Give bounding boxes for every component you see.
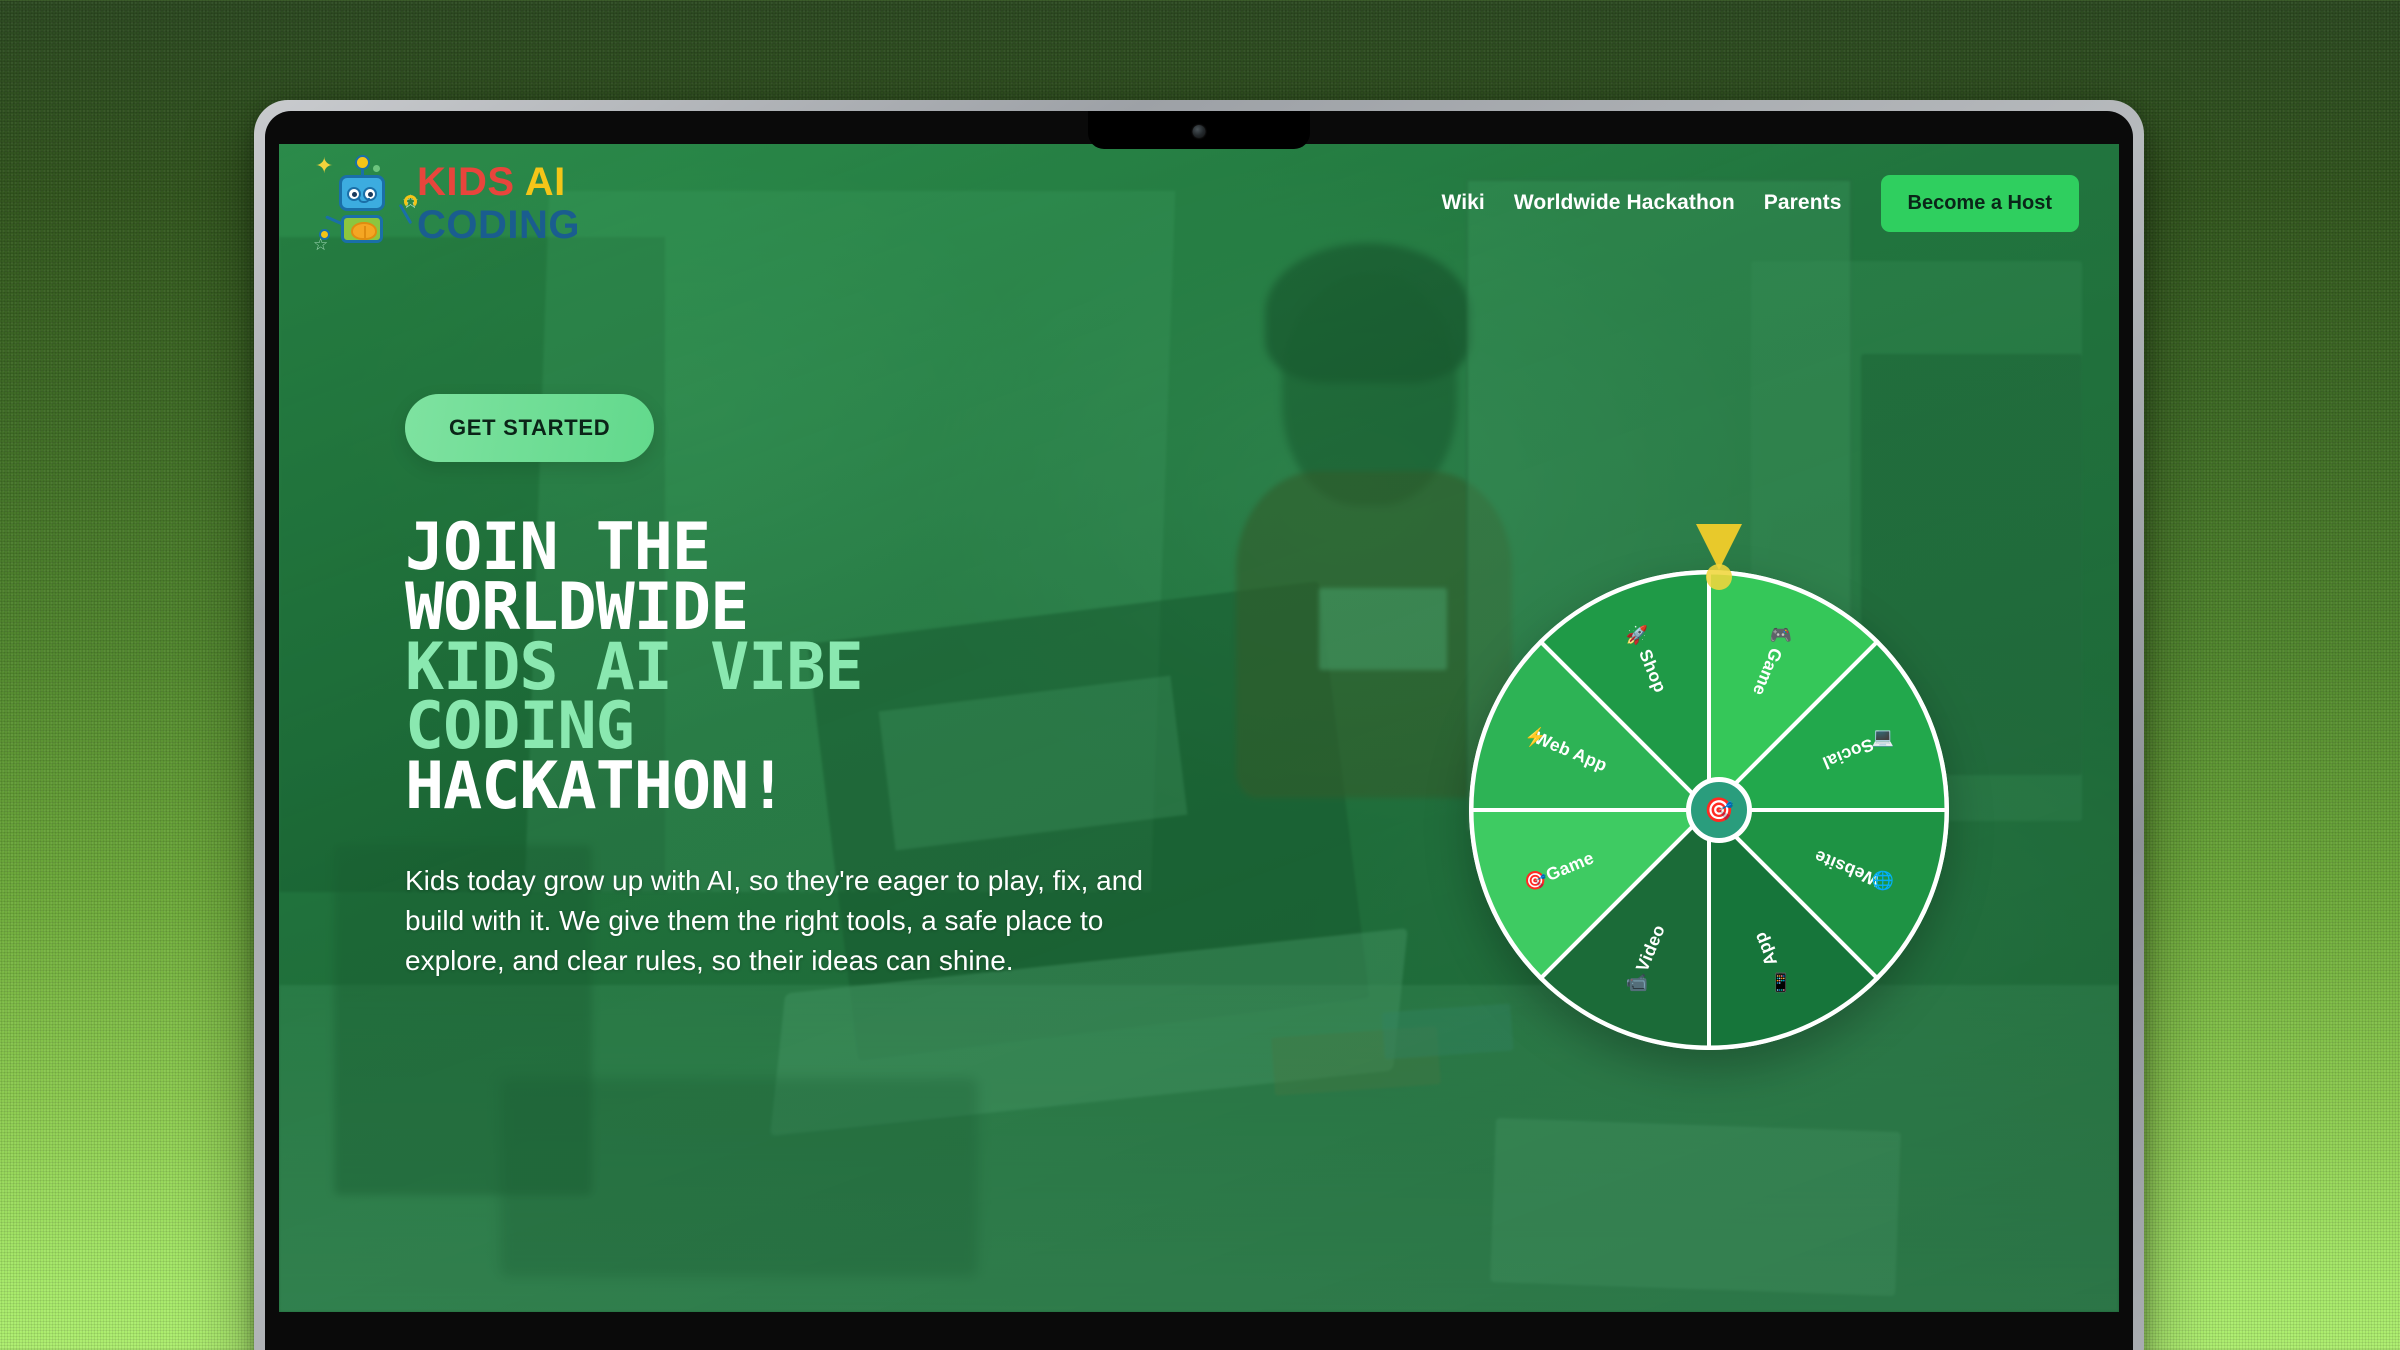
headline-line: JOIN THE <box>405 518 1205 578</box>
spin-wheel[interactable]: Game🎮Social💻Website🌐App📱Video📹Game🎯Web A… <box>1469 524 1969 1064</box>
page-title: JOIN THEWORLDWIDEKIDS AI VIBECODINGHACKA… <box>405 518 1205 817</box>
wheel-segment-icon: 📹 <box>1626 972 1648 992</box>
headline-line: HACKATHON! <box>405 757 1205 817</box>
wheel-hub-target-icon: 🎯 <box>1686 777 1752 843</box>
nav-link-wiki[interactable]: Wiki <box>1441 191 1484 215</box>
nav-link-worldwide-hackathon[interactable]: Worldwide Hackathon <box>1514 191 1735 215</box>
screen-notch <box>1088 111 1310 149</box>
headline-line: WORLDWIDE <box>405 578 1205 638</box>
site-header: ✦ ☆ ☆ <box>279 144 2119 262</box>
main-navigation: Wiki Worldwide Hackathon Parents Become … <box>1441 175 2079 232</box>
wheel-segment-icon: 💻 <box>1871 727 1893 747</box>
wheel-segment-icon: 🌐 <box>1871 870 1893 891</box>
brand-ai: AI <box>525 160 566 204</box>
become-a-host-button[interactable]: Become a Host <box>1881 175 2080 232</box>
brand-kids: KIDS <box>417 160 525 204</box>
laptop-device: ✦ ☆ ☆ <box>254 100 2144 1350</box>
wheel-segment-icon: 📱 <box>1770 971 1792 992</box>
brand-coding: CODING <box>417 205 580 245</box>
laptop-lid: ✦ ☆ ☆ <box>254 100 2144 1350</box>
nav-link-parents[interactable]: Parents <box>1764 191 1842 215</box>
get-started-button[interactable]: GET STARTED <box>405 394 654 462</box>
hero-section: GET STARTED JOIN THEWORLDWIDEKIDS AI VIB… <box>405 394 1205 981</box>
triangle-pointer-icon <box>1696 524 1742 586</box>
page-content: ✦ ☆ ☆ <box>279 144 2119 1312</box>
screen-viewport: ✦ ☆ ☆ <box>279 144 2119 1312</box>
wheel-segment-icon: 🚀 <box>1626 624 1648 645</box>
wheel-segment-icon: 🎮 <box>1770 625 1792 645</box>
laptop-bezel: ✦ ☆ ☆ <box>265 111 2133 1350</box>
brand-logo[interactable]: ✦ ☆ ☆ <box>327 159 580 247</box>
camera-icon <box>1193 125 1206 138</box>
wheel-segment-icon: 🎯 <box>1524 871 1546 891</box>
brand-wordmark: KIDS AI CODING <box>417 162 580 245</box>
hero-paragraph: Kids today grow up with AI, so they're e… <box>405 861 1205 981</box>
wheel-segment-icon: ⚡ <box>1524 726 1546 748</box>
robot-mascot-icon: ✦ ☆ ☆ <box>327 159 403 247</box>
